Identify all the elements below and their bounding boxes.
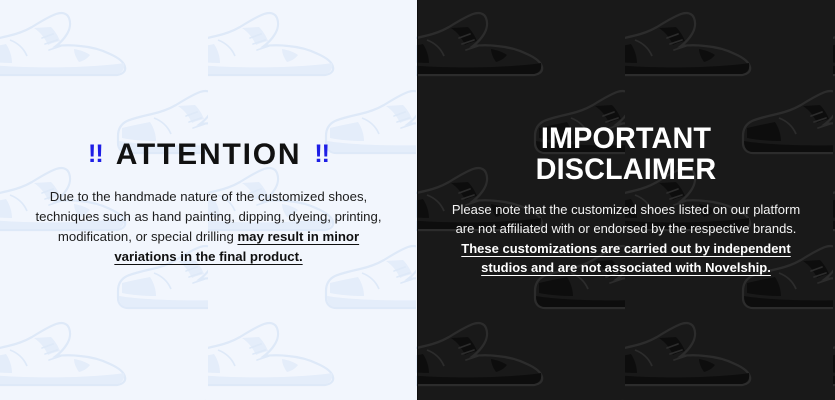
customization-disclaimer-banner: !! ATTENTION !! Due to the handmade natu… [0, 0, 835, 400]
disclaimer-heading-line1: IMPORTANT [452, 124, 800, 155]
disclaimer-heading-line2: DISCLAIMER [452, 155, 800, 186]
disclaimer-panel: IMPORTANT DISCLAIMER Please note that th… [417, 0, 835, 400]
disclaimer-body-emphasis: These customizations are carried out by … [461, 241, 790, 276]
attention-content: !! ATTENTION !! Due to the handmade natu… [0, 139, 417, 267]
attention-panel: !! ATTENTION !! Due to the handmade natu… [0, 0, 417, 400]
panel-divider [417, 0, 418, 400]
disclaimer-heading: IMPORTANT DISCLAIMER [452, 124, 800, 185]
double-exclamation-left-icon: !! [88, 141, 103, 167]
disclaimer-body-normal: Please note that the customized shoes li… [452, 202, 800, 237]
attention-title: ATTENTION [116, 139, 302, 171]
disclaimer-content: IMPORTANT DISCLAIMER Please note that th… [417, 124, 835, 277]
disclaimer-body: Please note that the customized shoes li… [445, 200, 807, 278]
attention-heading: !! ATTENTION !! [34, 139, 383, 171]
double-exclamation-right-icon: !! [314, 141, 329, 167]
attention-body: Due to the handmade nature of the custom… [34, 187, 383, 267]
